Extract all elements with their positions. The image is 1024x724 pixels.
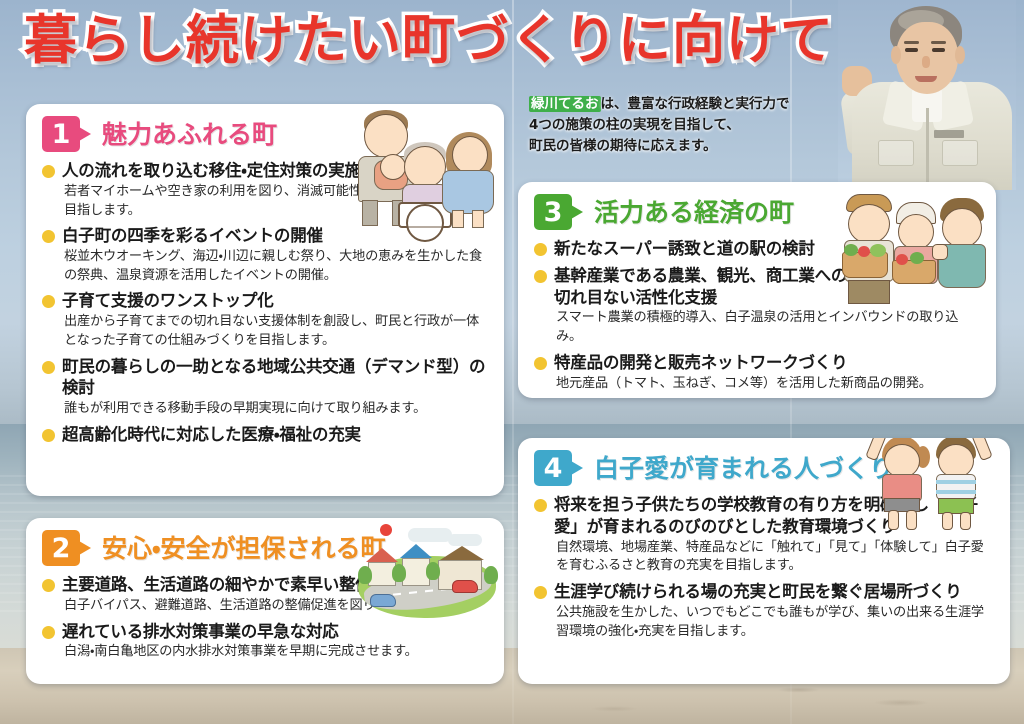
policy-card-3: 3 活力ある経済の町 新たなスーパー誘致と道の駅の検討 基幹産業である農業、観光… [518,182,996,398]
candidate-nose [922,56,930,68]
jacket-logo [934,130,964,138]
policy-item-head: 生涯学び続けられる場の充実と町民を繋ぐ居場所づくり [534,581,994,603]
candidate-eye [905,48,918,52]
policy-item-sub: 公共施設を生かした、いつでもどこでも誰もが学び、集いの出来る生涯学習環境の強化・… [534,604,984,641]
policy-item: 遅れている排水対策事業の早急な対応 白潟・南白亀地区の内水排水対策事業を早期に完… [42,621,488,663]
policy-item-sub: 誰もが利用できる移動手段の早期実現に向けて取り組みます。 [42,400,488,419]
policy-item-head: 町民の暮らしの一助となる地域公共交通（デマンド型）の検討 [42,356,488,400]
policy-card-2: 2 安心・安全が担保される町 主要道路、生活道路の細やかで素早い整備 白子バイパ… [26,518,504,684]
policy-card-1: 1 魅力あふれる町 人の流れを取り込む移住・定住対策の実施 若者マイホームや空き… [26,104,504,496]
campaign-poster: 暮らし続けたい町づくりに向けて 緑川てるおは、豊富な行政経験と実行力で 4つの施… [0,0,1024,724]
lead-line-1-rest: は、豊富な行政経験と実行力で [601,96,790,112]
policy-item-sub: 桜並木ウオーキング、海辺・川辺に親しむ祭り、大地の恵みを生かした食の祭典、温泉資… [42,248,488,285]
policy-item: 基幹産業である農業、観光、商工業への切れ目ない活性化支援 スマート農業の積極的導… [534,265,980,347]
candidate-photo [838,0,1016,190]
jacket-pocket-left [878,140,914,166]
policy-item-head: 将来を担う子供たちの学校教育の有り方を明確にし「白子愛」が育まれるのびのびとした… [534,494,980,538]
policy-item-head: 遅れている排水対策事業の早急な対応 [42,621,488,643]
policy-item-head: 新たなスーパー誘致と道の駅の検討 [534,238,854,260]
policy-item: 町民の暮らしの一助となる地域公共交通（デマンド型）の検討 誰もが利用できる移動手… [42,356,488,419]
section-number-badge-1: 1 [42,116,80,152]
policy-item-head: 人の流れを取り込む移住・定住対策の実施 [42,160,488,182]
section-number-badge-4: 4 [534,450,572,486]
policy-item: 超高齢化時代に対応した医療・福祉の充実 [42,424,488,446]
policy-card-4: 4 白子愛が育まれる人づくり 将来を担う子供たちの学校教育の有り方を明確にし「白… [518,438,1010,684]
candidate-eye [932,48,945,52]
policy-item-sub: 自然環境、地場産業、特産品などに「触れて」「見て」「体験して」白子愛を育むふるさ… [534,539,984,576]
policy-item-sub: スマート農業の積極的導入、白子温泉の活用とインバウンドの取り込み。 [534,309,980,346]
policy-item-sub: 若者マイホームや空き家の利用を図り、消滅可能性自治体からの脱却を目指します。 [42,183,488,220]
candidate-ear [955,46,965,64]
policy-item: 特産品の開発と販売ネットワークづくり 地元産品（トマト、玉ねぎ、コメ等）を活用し… [534,352,980,394]
lead-paragraph: 緑川てるおは、豊富な行政経験と実行力で 4つの施策の柱の実現を目指して、 町民の… [529,94,819,157]
candidate-name-highlight: 緑川てるお [529,96,601,112]
lead-line-3: 町民の皆様の期待に応えます。 [529,138,717,154]
policy-item: 子育て支援のワンストップ化 出産から子育てまでの切れ目ない支援体制を創設し、町民… [42,290,488,350]
jacket-pocket-right [942,140,978,166]
policy-item-head: 子育て支援のワンストップ化 [42,290,488,312]
policy-item: 将来を担う子供たちの学校教育の有り方を明確にし「白子愛」が育まれるのびのびとした… [534,494,994,576]
section-number-badge-2: 2 [42,530,80,566]
section-number-badge-3: 3 [534,194,572,230]
candidate-mouth [915,76,937,82]
section-title-4: 白子愛が育まれる人づくり [594,456,894,481]
section-title-1: 魅力あふれる町 [102,122,277,147]
section-header: 3 活力ある経済の町 [534,194,980,230]
lead-line-2: 4つの施策の柱の実現を目指して、 [529,117,740,133]
paper-fold-seam [512,0,514,724]
policy-item-sub: 地元産品（トマト、玉ねぎ、コメ等）を活用した新商品の開発。 [534,375,980,394]
policy-item-sub: 出産から子育てまでの切れ目ない支援体制を創設し、町民と行政が一体となった子育ての… [42,313,488,350]
policy-item-head: 白子町の四季を彩るイベントの開催 [42,225,488,247]
candidate-eyebrow [904,41,919,44]
policy-item-head: 超高齢化時代に対応した医療・福祉の充実 [42,424,488,446]
jacket-zipper [926,108,929,184]
policy-item: 新たなスーパー誘致と道の駅の検討 [534,238,980,260]
section-header: 1 魅力あふれる町 [42,116,488,152]
policy-item: 白子町の四季を彩るイベントの開催 桜並木ウオーキング、海辺・川辺に親しむ祭り、大… [42,225,488,285]
policy-item-sub: 白子バイパス、避難道路、生活道路の整備促進を図ります。 [42,597,488,616]
section-title-3: 活力ある経済の町 [594,200,794,225]
section-header: 4 白子愛が育まれる人づくり [534,450,994,486]
candidate-eyebrow [931,41,946,44]
policy-item-head: 主要道路、生活道路の細やかで素早い整備 [42,574,488,596]
section-header: 2 安心・安全が担保される町 [42,530,488,566]
policy-item-sub: 白潟・南白亀地区の内水排水対策事業を早期に完成させます。 [42,643,488,662]
candidate-ear [891,46,901,64]
policy-item-head: 基幹産業である農業、観光、商工業への切れ目ない活性化支援 [534,265,856,309]
policy-item: 生涯学び続けられる場の充実と町民を繋ぐ居場所づくり 公共施設を生かした、いつでも… [534,581,994,641]
page-title: 暮らし続けたい町づくりに向けて [24,14,834,67]
policy-item: 人の流れを取り込む移住・定住対策の実施 若者マイホームや空き家の利用を図り、消滅… [42,160,488,220]
section-title-2: 安心・安全が担保される町 [102,536,386,561]
policy-item-head: 特産品の開発と販売ネットワークづくり [534,352,980,374]
policy-item: 主要道路、生活道路の細やかで素早い整備 白子バイパス、避難道路、生活道路の整備促… [42,574,488,616]
